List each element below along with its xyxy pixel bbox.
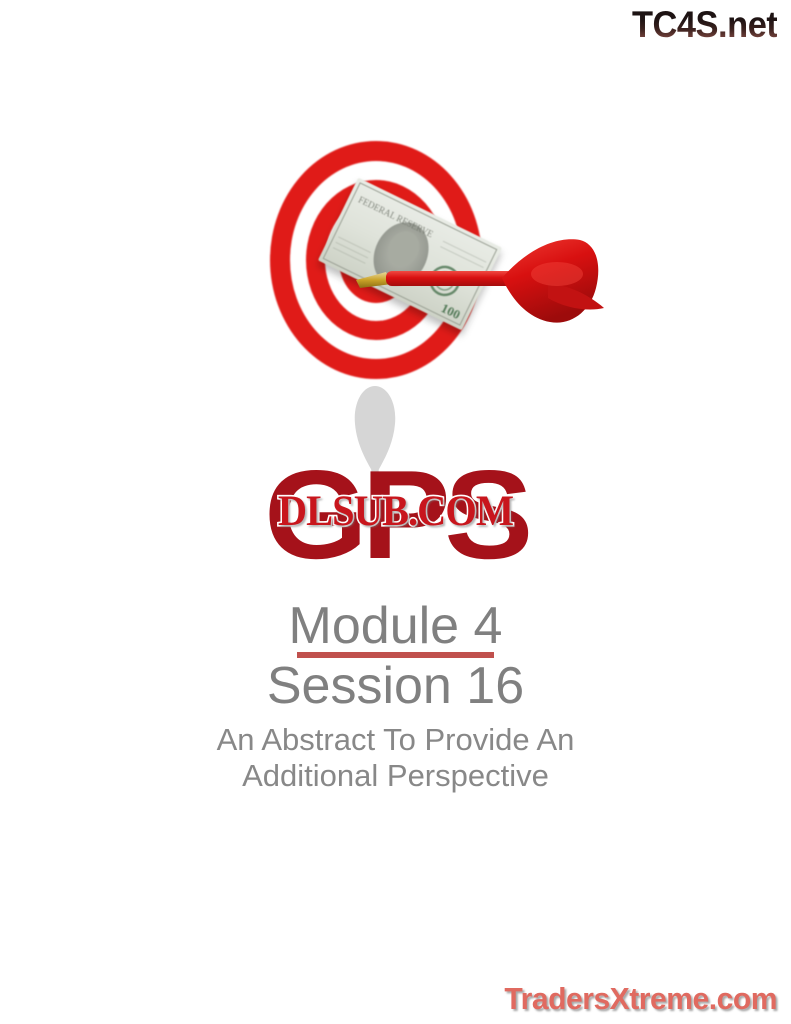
gps-logo-block: GPS DLSUB.COM — [0, 452, 791, 592]
title-block: Module 4 Session 16 An Abstract To Provi… — [0, 598, 791, 794]
header-brand-logo: TC4S.net — [632, 6, 777, 43]
dart-icon — [352, 228, 632, 348]
session-title: Session 16 — [0, 658, 791, 714]
slide-page: TC4S.net — [0, 0, 791, 1024]
footer-brand-logo: TradersXtreme.com — [504, 982, 777, 1016]
subtitle-line-2: Additional Perspective — [0, 758, 791, 794]
hero-graphic: 100 FEDERAL RESERVE — [0, 120, 791, 460]
subtitle-line-1: An Abstract To Provide An — [0, 722, 791, 758]
dlsub-watermark: DLSUB.COM — [24, 490, 768, 533]
module-title: Module 4 — [0, 598, 791, 654]
